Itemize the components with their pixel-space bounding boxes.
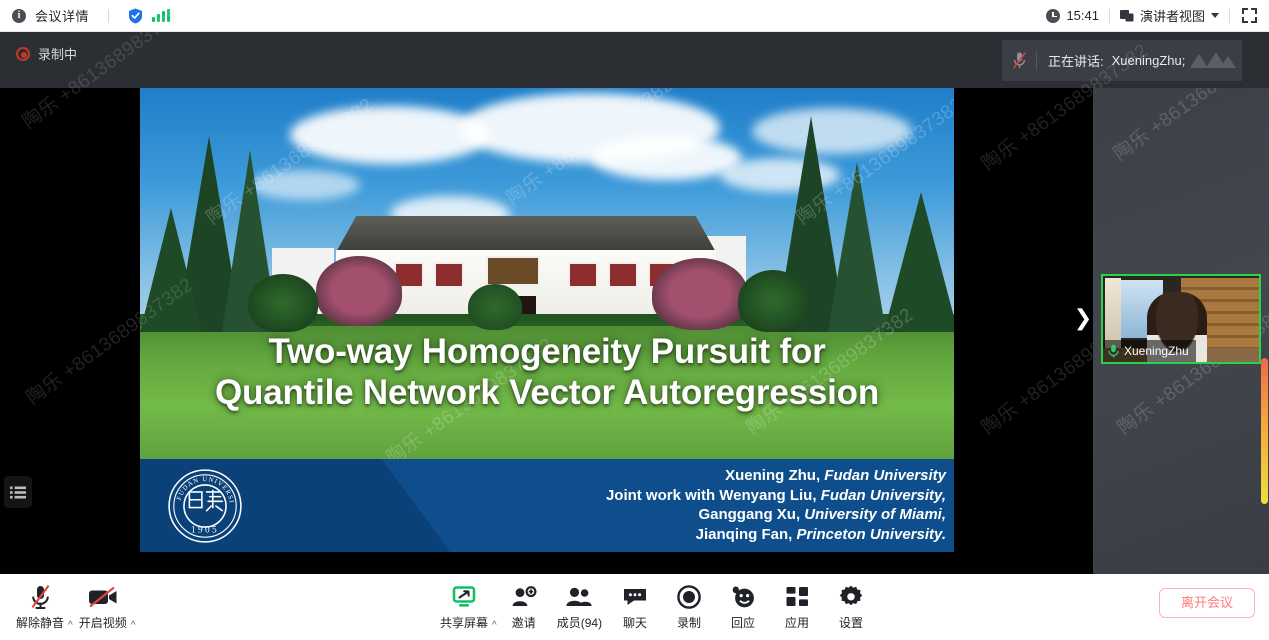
chat-label: 聊天 [623,614,647,631]
mic-muted-icon [30,582,51,612]
reaction-label: 回应 [731,614,755,631]
slide-title-line-1: Two-way Homogeneity Pursuit for [146,331,948,372]
settings-label: 设置 [839,614,863,631]
start-video-button[interactable]: 开启视频 [73,582,133,631]
shrub [738,270,808,332]
record-icon [677,582,701,612]
speaker-divider [1036,52,1037,70]
author-name: Jianqing Fan, [696,526,793,543]
author-affiliation: Fudan University [824,467,946,484]
clock-icon [1046,9,1060,23]
cloud [290,106,490,164]
start-video-label: 开启视频 [79,614,127,631]
author-row: Ganggang Xu, University of Miami, [606,505,946,525]
invite-person-icon [511,582,537,612]
zoom-meeting-window: i 会议详情 15:41 演讲者视图 [0,0,1269,640]
list-outline-icon[interactable] [4,476,32,508]
participants-label: 成员(94) [557,614,602,631]
top-header-bar: i 会议详情 15:41 演讲者视图 [0,0,1269,32]
mic-on-icon [1108,344,1119,358]
participant-name: XueningZhu [1124,344,1189,358]
apps-button[interactable]: 应用 [770,582,824,631]
speaking-prefix-label: 正在讲话: [1048,51,1104,70]
chat-button[interactable]: 聊天 [608,582,662,631]
record-dot-icon [16,47,30,61]
invite-label: 邀请 [512,614,536,631]
author-name: Ganggang Xu, [698,506,800,523]
speaking-name: XueningZhu; [1112,53,1186,68]
settings-gear-icon [839,582,863,612]
meeting-controls-toolbar: 解除静音 ^ 开启视频 ^ [0,574,1269,640]
view-mode-selector[interactable]: 演讲者视图 [1120,6,1219,25]
cloud [250,170,360,200]
participants-icon [565,582,593,612]
header-divider-3 [1229,9,1230,23]
header-left-group: i 会议详情 [12,6,170,25]
author-name: Xuening Zhu, [725,467,820,484]
signal-strength-icon[interactable] [152,9,170,22]
speaker-view-icon [1120,9,1134,23]
slide-title: Two-way Homogeneity Pursuit for Quantile… [140,331,954,413]
meeting-details-label[interactable]: 会议详情 [35,6,89,25]
reaction-icon [730,582,756,612]
author-affiliation: University of Miami, [804,506,946,523]
participant-video-panel: 陶乐 +8613689837382 陶乐 +8613689837382 Xuen… [1093,88,1269,574]
watermark: 陶乐 +8613689837382 [1107,88,1269,166]
header-divider [108,9,109,23]
leave-meeting-button[interactable]: 离开会议 [1159,588,1255,618]
apps-label: 应用 [785,614,809,631]
author-name: Joint work with Wenyang Liu, [606,487,817,504]
toolbar-center-group: 共享屏幕 ^ 邀请 [434,582,878,631]
settings-button[interactable]: 设置 [824,582,878,631]
chat-icon [622,582,648,612]
recording-indicator: 录制中 [16,44,77,63]
author-row: Xuening Zhu, Fudan University [606,466,946,486]
slide-authors: Xuening Zhu, Fudan University Joint work… [606,466,946,544]
invite-button[interactable]: 邀请 [497,582,551,631]
cloud [752,108,912,154]
panel-scrollbar[interactable] [1261,358,1268,504]
meeting-time: 15:41 [1066,8,1099,23]
recording-label: 录制中 [38,44,77,63]
building-roof [324,216,728,252]
chevron-down-icon [1211,13,1219,18]
mic-muted-icon [1002,51,1036,70]
share-screen-button[interactable]: 共享屏幕 [434,582,494,631]
unmute-button[interactable]: 解除静音 [10,582,70,631]
slide-title-line-2: Quantile Network Vector Autoregression [146,372,948,413]
header-right-group: 15:41 演讲者视图 [1046,6,1257,25]
fullscreen-icon[interactable] [1242,8,1257,23]
record-button[interactable]: 录制 [662,582,716,631]
toolbar-left-group: 解除静音 ^ 开启视频 ^ [10,582,135,631]
svg-text:1905: 1905 [191,526,219,536]
active-speaker-indicator: 正在讲话: XueningZhu; [1002,40,1242,81]
author-affiliation: Fudan University, [821,487,946,504]
presentation-slide: 陶乐 +8613689837382 陶乐 +8613689837382 陶乐 +… [140,88,954,552]
author-affiliation: Princeton University. [797,526,947,543]
fudan-university-seal-icon: FUDAN UNIVERSITY 1905 [166,467,244,545]
curtain [1105,278,1121,348]
info-icon[interactable]: i [12,9,26,23]
apps-icon [786,582,809,612]
reaction-button[interactable]: 回应 [716,582,770,631]
participant-video-thumbnail[interactable]: XueningZhu [1101,274,1261,364]
participant-name-badge: XueningZhu [1103,340,1196,362]
share-screen-icon [450,582,478,612]
participants-button[interactable]: 成员(94) [551,582,608,631]
building-plaque [486,256,540,286]
view-mode-label: 演讲者视图 [1140,6,1205,25]
flower-tree [652,258,748,330]
audio-wave-icon [1190,50,1236,72]
shield-check-icon[interactable] [128,8,143,24]
header-divider-2 [1109,9,1110,23]
shrub [468,284,522,330]
flower-tree [316,256,402,326]
shared-content-stage: 陶乐 +8613689837382 陶乐 +8613689837382 陶乐 +… [0,88,1093,574]
slide-footer-band: FUDAN UNIVERSITY 1905 Xuening Zhu, Fudan… [140,459,954,552]
record-label: 录制 [677,614,701,631]
share-screen-label: 共享屏幕 [440,614,488,631]
author-row: Jianqing Fan, Princeton University. [606,525,946,545]
unmute-label: 解除静音 [16,614,64,631]
video-options-chevron-icon[interactable]: ^ [131,620,136,631]
shrub [248,274,318,332]
video-off-icon [88,582,118,612]
author-row: Joint work with Wenyang Liu, Fudan Unive… [606,486,946,506]
